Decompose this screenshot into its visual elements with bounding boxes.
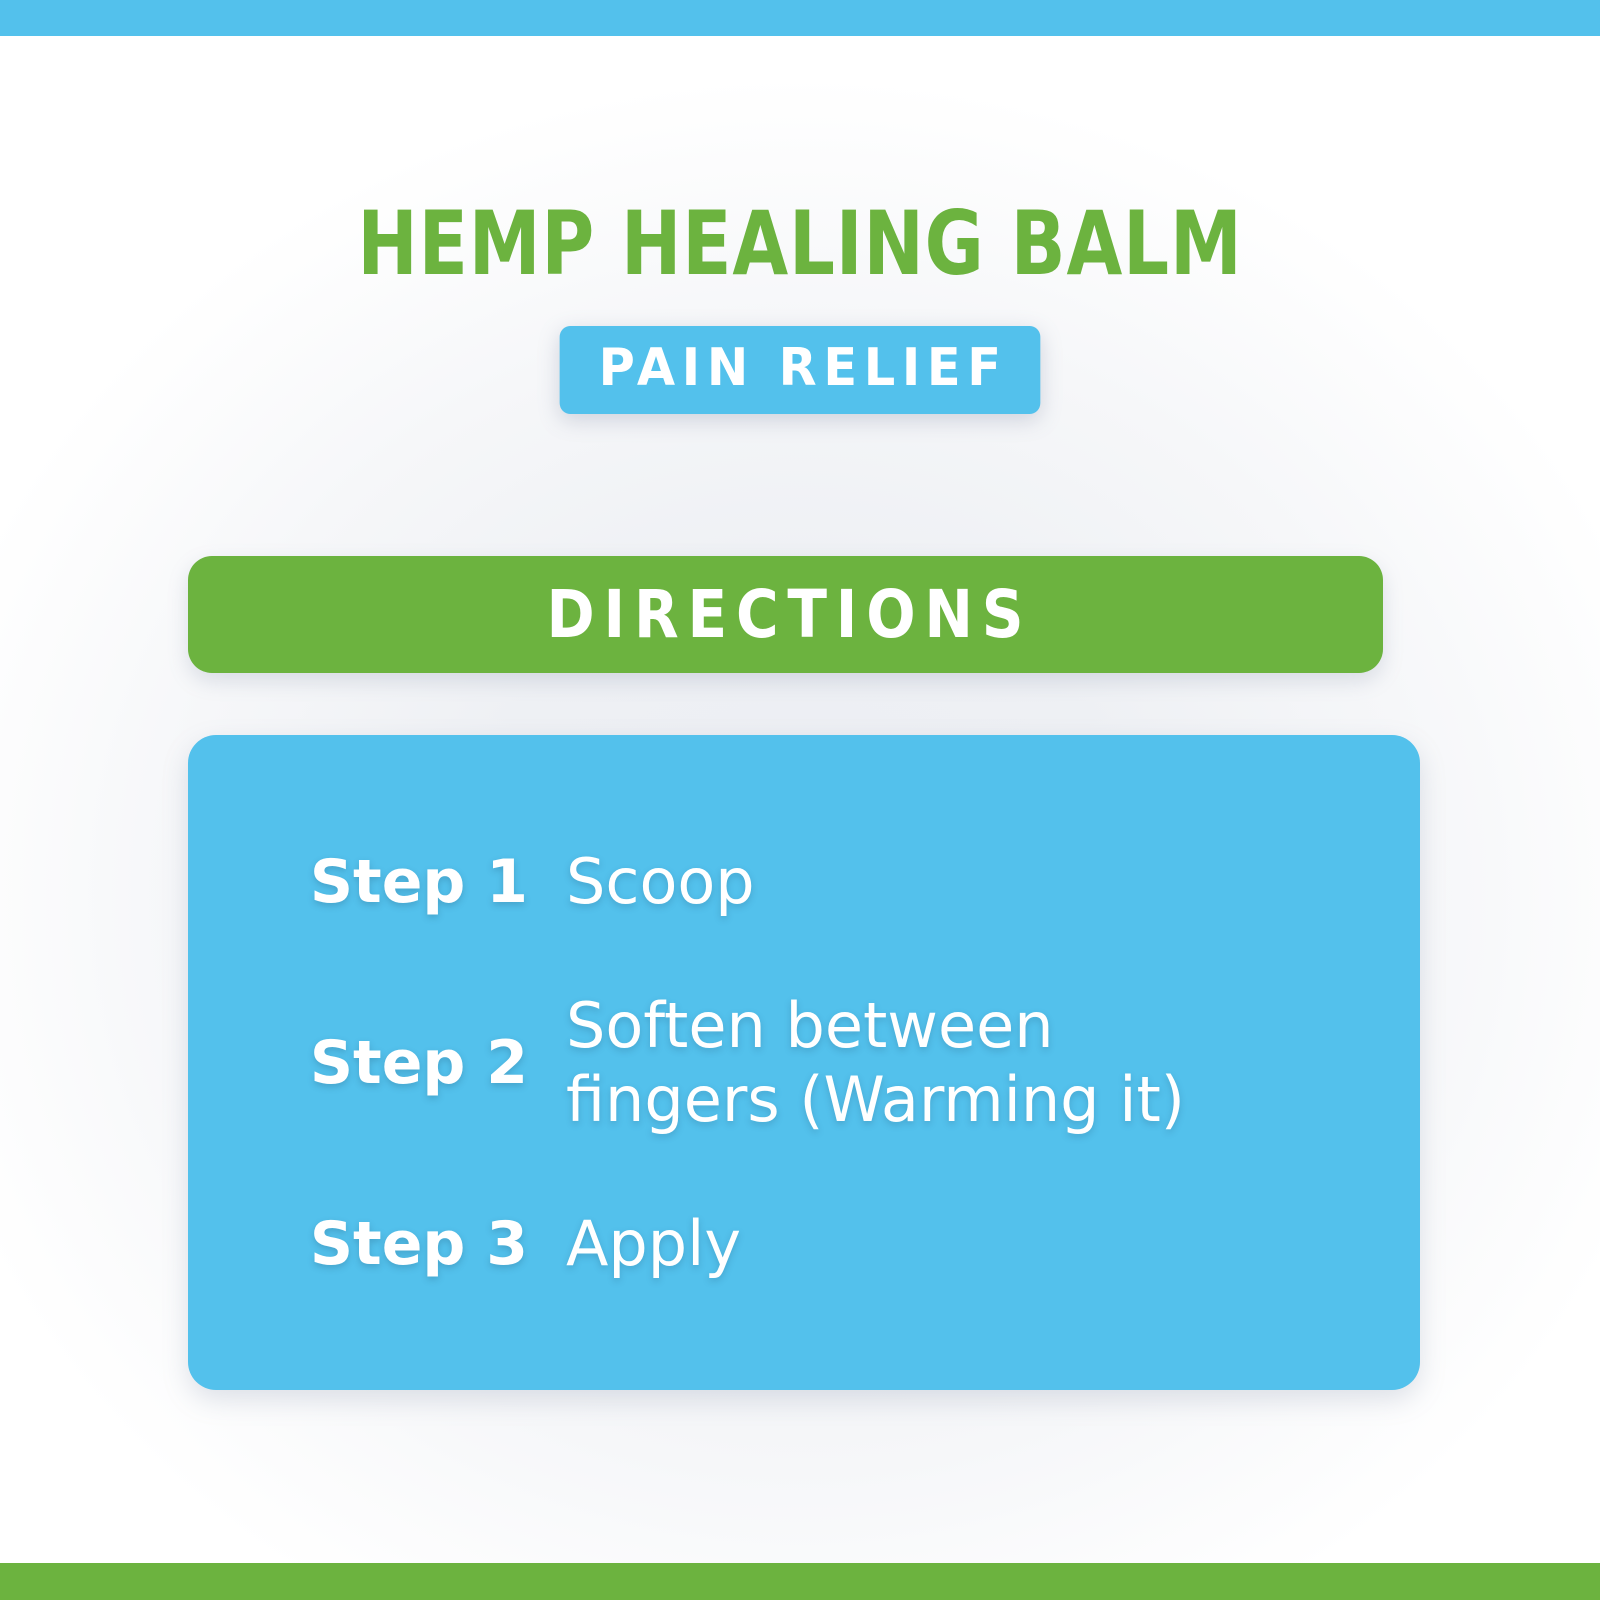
list-item: Step 2 Soften between fingers (Warming i…	[270, 989, 1380, 1137]
badge-container: PAIN RELIEF	[0, 326, 1600, 414]
directions-header-bar: DIRECTIONS	[188, 556, 1383, 673]
steps-list: Step 1 Scoop Step 2 Soften between finge…	[188, 845, 1420, 1281]
step-label: Step 1	[270, 849, 528, 915]
step-description-line: Apply	[566, 1207, 741, 1281]
step-description-line: fingers (Warming it)	[566, 1063, 1185, 1137]
step-description-line: Scoop	[566, 845, 755, 919]
step-label: Step 3	[270, 1211, 528, 1277]
step-description: Soften between fingers (Warming it)	[566, 989, 1185, 1137]
top-accent-bar	[0, 0, 1600, 36]
status-badge: PAIN RELIEF	[560, 326, 1040, 414]
list-item: Step 1 Scoop	[270, 845, 1380, 919]
page-background: HEMP HEALING BALM PAIN RELIEF DIRECTIONS…	[0, 0, 1600, 1600]
list-item: Step 3 Apply	[270, 1207, 1380, 1281]
step-description: Scoop	[566, 845, 755, 919]
directions-steps-card: Step 1 Scoop Step 2 Soften between finge…	[188, 735, 1420, 1390]
bottom-accent-bar	[0, 1563, 1600, 1600]
step-description: Apply	[566, 1207, 741, 1281]
step-description-line: Soften between	[566, 989, 1185, 1063]
directions-heading: DIRECTIONS	[538, 580, 1033, 650]
step-label: Step 2	[270, 1030, 528, 1096]
page-title: HEMP HEALING BALM	[144, 196, 1456, 292]
